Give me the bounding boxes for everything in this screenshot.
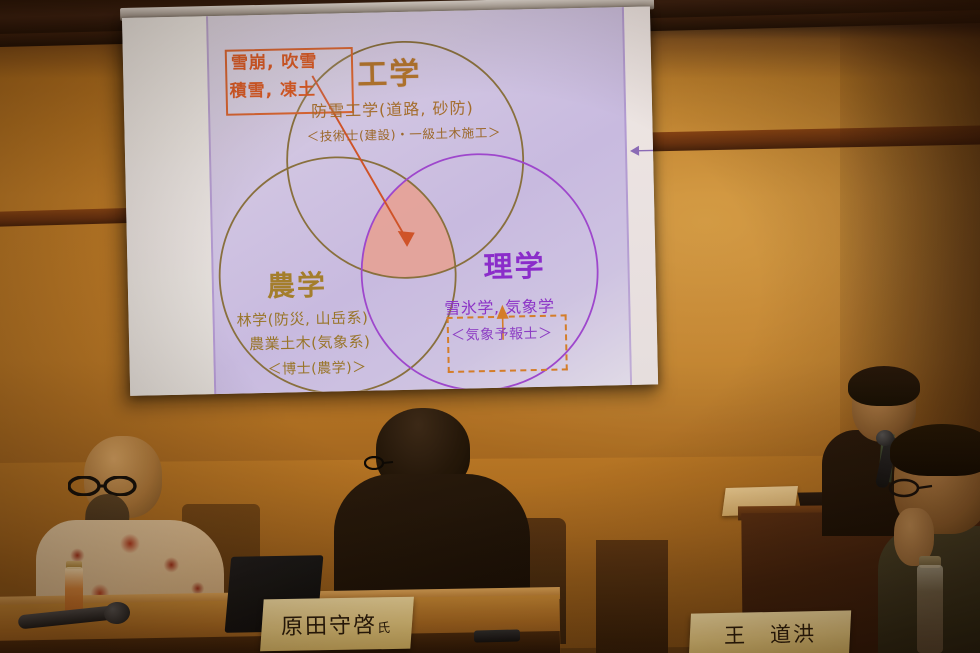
hazard-callout-line2: 積雪, 凍土 [229, 82, 316, 101]
projection-screen: 雪崩, 吹雪 積雪, 凍土 工学 防雪工学(道路, 砂防) ＜技術士(建設)・一… [122, 6, 658, 395]
screenshot-root: 雪崩, 吹雪 積雪, 凍土 工学 防雪工学(道路, 砂防) ＜技術士(建設)・一… [0, 0, 980, 653]
venn-label-agriculture-title: 農学 [267, 272, 328, 301]
glasses-icon-center [364, 456, 394, 470]
glasses-icon-foreground [888, 478, 946, 498]
water-bottle-right [917, 565, 943, 653]
venn-label-engineering-title: 工学 [357, 59, 422, 90]
nameplate-wang: 王 道洪 [689, 610, 851, 653]
glasses-icon-left [68, 476, 140, 496]
screen-left-margin [122, 16, 214, 396]
smartphone-center [474, 629, 520, 642]
venn-label-engineering-sub1: 防雪工学(道路, 砂防) [311, 100, 474, 120]
water-bottle-left [65, 567, 83, 615]
nameplate-harada-suffix: 氏 [378, 621, 393, 636]
audience-member-hair [890, 424, 980, 476]
chair-right-background [596, 540, 668, 653]
venn-label-agriculture-sub1: 林学(防災, 山岳系) [236, 311, 368, 329]
nameplate-harada-text: 原田守啓氏 [281, 607, 393, 641]
nameplate-wang-text: 王 道洪 [724, 618, 817, 650]
nameplate-harada: 原田守啓氏 [260, 597, 414, 652]
speaker-hair [848, 366, 920, 406]
venn-label-science-sub1: 雪氷学, 気象学 [444, 299, 555, 317]
venn-label-science-sub2: ＜気象予報士＞ [451, 327, 553, 343]
forecaster-dashed-box [447, 314, 568, 373]
hazard-callout-line1: 雪崩, 吹雪 [231, 54, 318, 73]
presentation-slide: 雪崩, 吹雪 積雪, 凍土 工学 防雪工学(道路, 砂防) ＜技術士(建設)・一… [206, 7, 632, 394]
venn-label-agriculture-sub2: 農業土木(気象系) [249, 335, 371, 353]
venn-label-science-title: 理学 [483, 252, 546, 282]
venn-label-agriculture-sub3: ＜博士(農学)＞ [268, 361, 367, 377]
